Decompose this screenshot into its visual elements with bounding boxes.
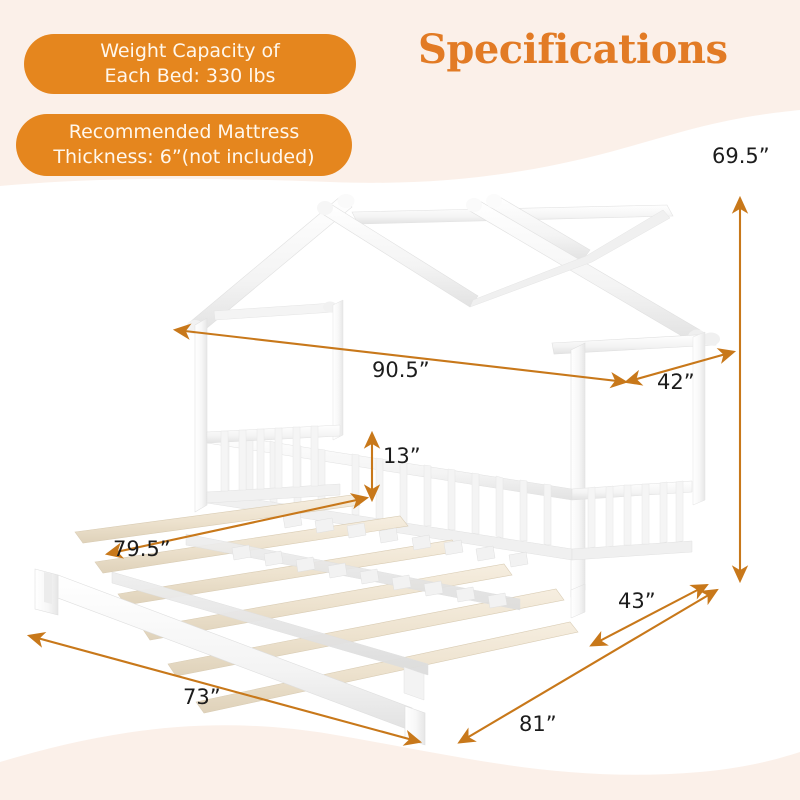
dimension-label-roof-depth: 42” [657,370,695,394]
callout-mattress-line2: Thickness: 6”(not included) [53,145,314,170]
arrow-overall-length [460,590,717,742]
dimension-label-height-overall: 69.5” [712,144,770,168]
arrow-frame-length [30,636,420,742]
page-title: Specifications [418,26,727,73]
callout-weight-line2: Each Bed: 330 lbs [100,64,280,89]
dimension-label-frame-length: 73” [183,685,221,709]
specifications-page: Specifications Weight Capacity of Each B… [0,0,800,800]
dimension-label-roof-width: 90.5” [372,358,430,382]
callout-weight-line1: Weight Capacity of [100,39,280,64]
dimension-label-rail-height: 13” [383,444,421,468]
callout-mattress-thickness: Recommended Mattress Thickness: 6”(not i… [16,114,352,176]
dimension-label-bed-depth: 43” [618,589,656,613]
callout-weight-capacity: Weight Capacity of Each Bed: 330 lbs [24,34,356,94]
callout-mattress-line1: Recommended Mattress [53,120,314,145]
dimension-label-mattress-length: 79.5” [113,537,171,561]
dimension-label-overall-length: 81” [519,712,557,736]
